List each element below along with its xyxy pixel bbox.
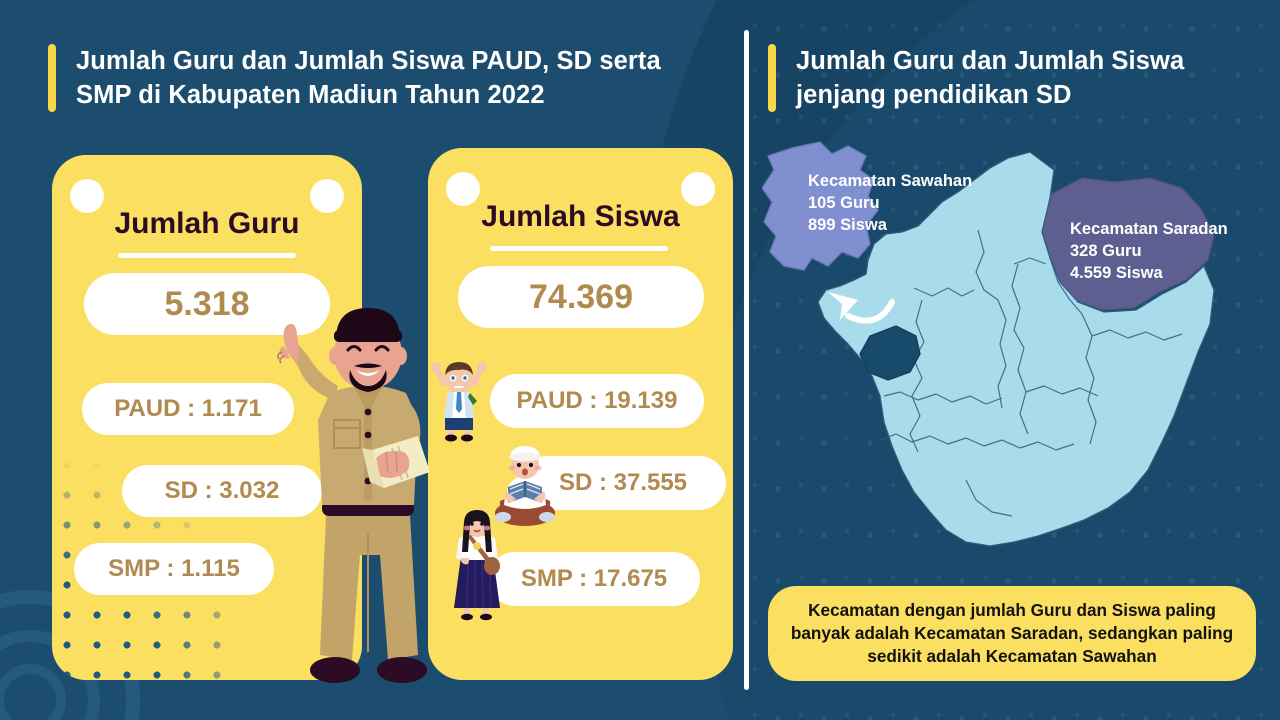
card-title-rule xyxy=(118,253,296,258)
left-heading-text: Jumlah Guru dan Jumlah Siswa PAUD, SD se… xyxy=(76,44,718,112)
infographic-canvas: Jumlah Guru dan Jumlah Siswa PAUD, SD se… xyxy=(0,0,1280,720)
card-title-guru: Jumlah Guru xyxy=(52,207,362,241)
map-caption-box: Kecamatan dengan jumlah Guru dan Siswa p… xyxy=(768,586,1256,681)
map-label-sawahan-guru: 105 Guru xyxy=(808,192,972,214)
card-title-siswa: Jumlah Siswa xyxy=(428,200,733,234)
vertical-divider xyxy=(744,30,749,690)
map-label-sawahan: Kecamatan Sawahan 105 Guru 899 Siswa xyxy=(808,170,972,236)
guru-paud-pill: PAUD : 1.171 xyxy=(82,383,294,435)
siswa-paud-pill: PAUD : 19.139 xyxy=(490,374,704,428)
map-label-saradan: Kecamatan Saradan 328 Guru 4.559 Siswa xyxy=(1070,218,1228,284)
map-label-saradan-guru: 328 Guru xyxy=(1070,240,1228,262)
student-paud-illustration xyxy=(428,357,490,442)
map-label-sawahan-siswa: 899 Siswa xyxy=(808,214,972,236)
right-panel-heading: Jumlah Guru dan Jumlah Siswa jenjang pen… xyxy=(768,44,1248,112)
map-label-saradan-siswa: 4.559 Siswa xyxy=(1070,262,1228,284)
siswa-smp-pill: SMP : 17.675 xyxy=(488,552,700,606)
card-title-rule xyxy=(490,246,668,251)
right-heading-text: Jumlah Guru dan Jumlah Siswa jenjang pen… xyxy=(796,44,1248,112)
heading-accent-bar xyxy=(48,44,56,112)
guru-smp-pill: SMP : 1.115 xyxy=(74,543,274,595)
student-smp-illustration xyxy=(448,508,506,623)
map-caption-text: Kecamatan dengan jumlah Guru dan Siswa p… xyxy=(786,599,1238,668)
map-label-sawahan-name: Kecamatan Sawahan xyxy=(808,170,972,192)
left-panel-heading: Jumlah Guru dan Jumlah Siswa PAUD, SD se… xyxy=(48,44,718,112)
map-label-saradan-name: Kecamatan Saradan xyxy=(1070,218,1228,240)
total-siswa-pill: 74.369 xyxy=(458,266,704,328)
heading-accent-bar xyxy=(768,44,776,112)
